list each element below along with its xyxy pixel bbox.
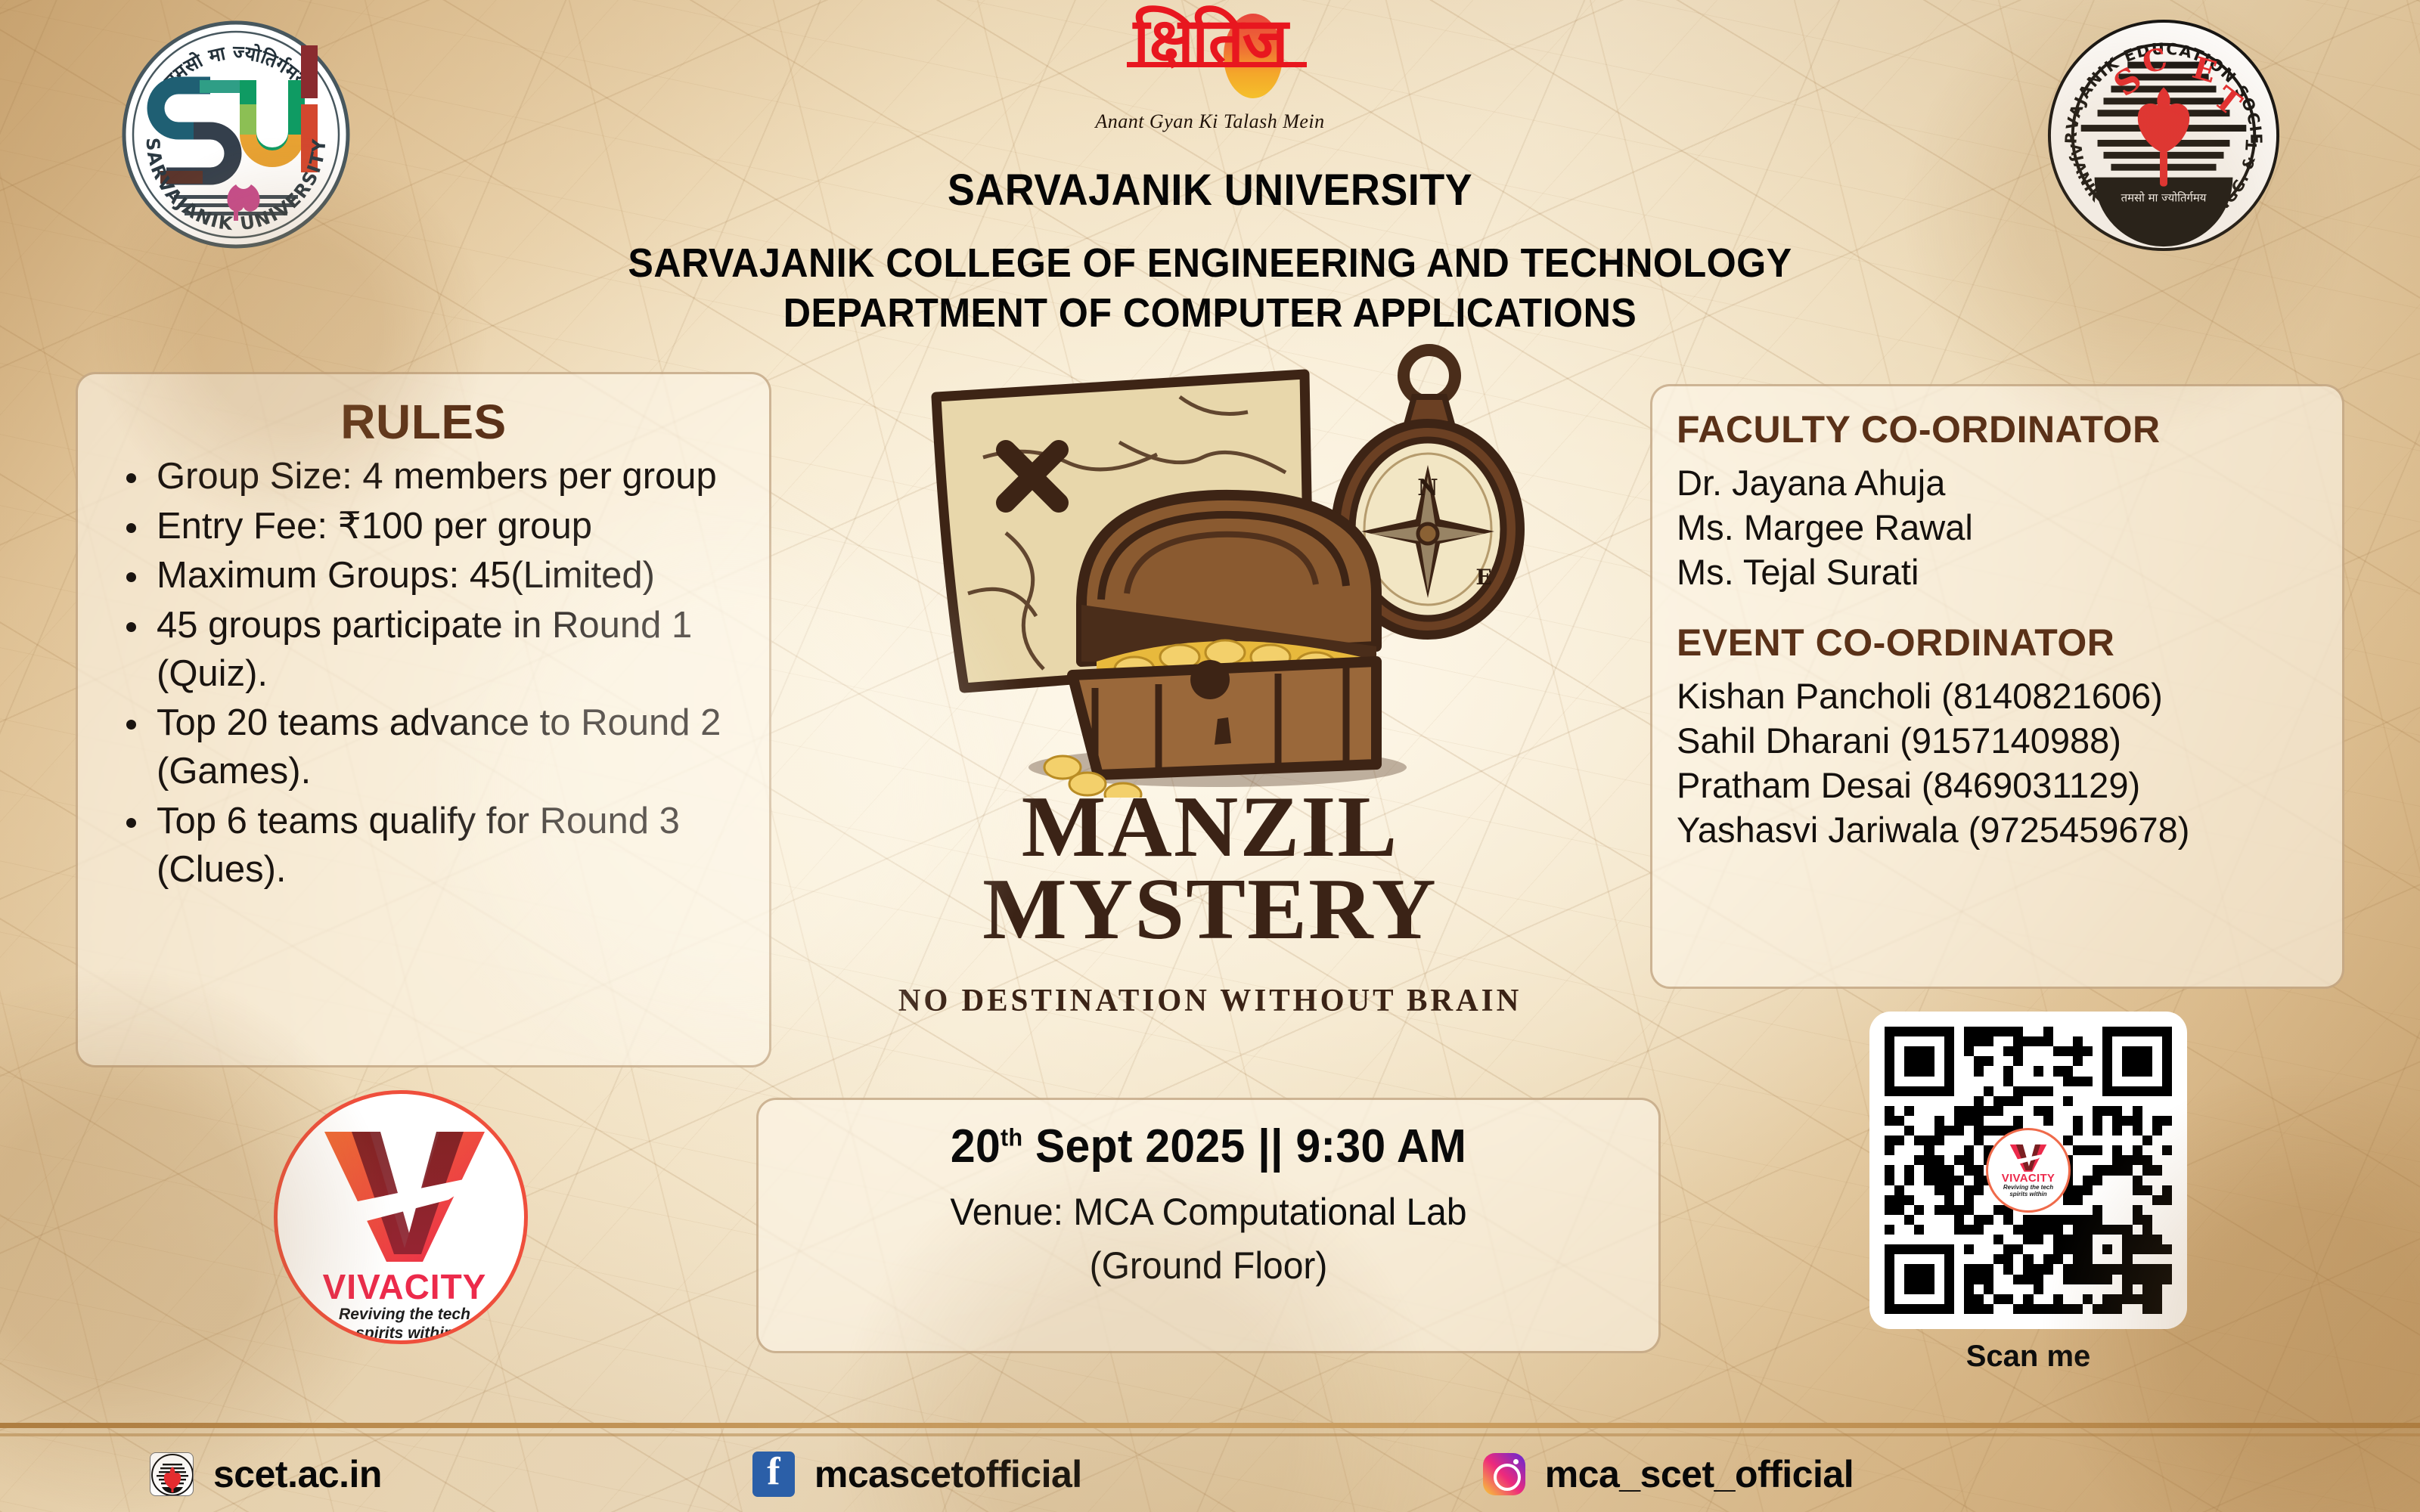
rule-item: Entry Fee: ₹100 per group (120, 503, 743, 551)
qr-logo-v-icon (2008, 1143, 2049, 1172)
rules-list: Group Size: 4 members per group Entry Fe… (104, 453, 743, 894)
qr-logo-wordmark: VIVACITY (2002, 1172, 2055, 1185)
faculty-coordinator-name: Ms. Margee Rawal (1677, 505, 2319, 550)
coordinators-panel: FACULTY CO-ORDINATOR Dr. Jayana Ahuja Ms… (1650, 384, 2344, 989)
faculty-coordinator-title: FACULTY CO-ORDINATOR (1677, 407, 2319, 451)
event-title-line1: MANZIL (809, 786, 1612, 869)
qr-logo-tagline-2: spirits within (2009, 1191, 2046, 1198)
event-coordinator-title: EVENT CO-ORDINATOR (1677, 621, 2319, 665)
vivacity-v-mark (315, 1127, 494, 1263)
scet-logo-icon (150, 1452, 194, 1496)
vivacity-tagline-line1: Reviving the tech (278, 1306, 528, 1325)
schedule-panel: 20th Sept 2025 || 9:30 AM Venue: MCA Com… (756, 1098, 1661, 1353)
qr-embedded-vivacity-logo: VIVACITY Reviving the tech spirits withi… (1986, 1128, 2071, 1213)
event-venue: Venue: MCA Computational Lab (Ground Flo… (799, 1185, 1619, 1293)
facebook-icon (752, 1452, 795, 1497)
svg-text:N: N (1417, 475, 1438, 501)
qr-code[interactable]: VIVACITY Reviving the tech spirits withi… (1869, 1012, 2187, 1329)
rules-panel: RULES Group Size: 4 members per group En… (76, 372, 771, 1067)
event-coordinator-contact: Kishan Pancholi (8140821606) (1677, 674, 2319, 718)
instagram-icon (1483, 1453, 1525, 1495)
vivacity-tagline: Reviving the tech spirits within (278, 1306, 528, 1343)
header-line-department: DEPARTMENT OF COMPUTER APPLICATIONS (85, 289, 2335, 339)
poster-canvas: तमसो मा ज्योतिर्गमय (0, 0, 2420, 1512)
poster-header: SARVAJANIK UNIVERSITY SARVAJANIK COLLEGE… (0, 165, 2420, 339)
event-tagline: NO DESTINATION WITHOUT BRAIN (824, 983, 1595, 1019)
header-line-college: SARVAJANIK COLLEGE OF ENGINEERING AND TE… (85, 239, 2335, 289)
svg-text:E: E (1475, 565, 1491, 590)
devanagari-shirorekha-bar (1127, 62, 1307, 67)
footer-facebook[interactable]: mcascetofficial (752, 1452, 1082, 1497)
qr-caption: Scan me (1869, 1340, 2187, 1374)
registration-qr-block[interactable]: VIVACITY Reviving the tech spirits withi… (1869, 1012, 2187, 1374)
event-coordinator-contact: Yashasvi Jariwala (9725459678) (1677, 807, 2319, 852)
rule-item: 45 groups participate in Round 1 (Quiz). (120, 602, 743, 698)
venue-line-2: (Ground Floor) (799, 1239, 1619, 1293)
event-title-line2: MYSTERY (809, 869, 1612, 951)
rules-title: RULES (104, 394, 743, 450)
poster-content: तमसो मा ज्योतिर्गमय (0, 0, 2420, 1512)
vivacity-club-logo: VIVACITY Reviving the tech spirits withi… (274, 1090, 528, 1344)
footer-bar: scet.ac.in mcascetofficial mca_scet_offi… (0, 1436, 2420, 1512)
facebook-handle: mcascetofficial (814, 1452, 1082, 1496)
event-date-ordinal: th (1001, 1123, 1022, 1151)
event-title: MANZIL MYSTERY (817, 786, 1603, 951)
venue-line-1: Venue: MCA Computational Lab (799, 1185, 1619, 1239)
event-date-day: 20 (951, 1120, 1001, 1173)
event-datetime: 20th Sept 2025 || 9:30 AM (802, 1120, 1615, 1173)
treasure-map-chest-compass-illustration: N E (892, 344, 1528, 798)
footer-divider-top (0, 1423, 2420, 1428)
event-date-rest: Sept 2025 || 9:30 AM (1022, 1120, 1466, 1173)
website-label: scet.ac.in (213, 1452, 382, 1496)
treasure-chest-icon (1044, 495, 1376, 798)
faculty-coordinator-name: Ms. Tejal Surati (1677, 550, 2319, 594)
event-coordinator-contact: Pratham Desai (8469031129) (1677, 763, 2319, 807)
rule-item: Maximum Groups: 45(Limited) (120, 552, 743, 600)
event-coordinator-contact: Sahil Dharani (9157140988) (1677, 718, 2319, 763)
header-line-university: SARVAJANIK UNIVERSITY (85, 165, 2335, 216)
instagram-handle: mca_scet_official (1545, 1452, 1854, 1496)
rule-item: Group Size: 4 members per group (120, 453, 743, 501)
faculty-coordinator-name: Dr. Jayana Ahuja (1677, 460, 2319, 505)
footer-website[interactable]: scet.ac.in (150, 1452, 382, 1496)
vivacity-wordmark: VIVACITY (278, 1266, 528, 1307)
kshitij-mark: क्षितिज (1044, 6, 1376, 112)
rule-item: Top 20 teams advance to Round 2 (Games). (120, 699, 743, 795)
kshitij-tagline: Anant Gyan Ki Talash Mein (1044, 110, 1376, 133)
kshitij-fest-logo: क्षितिज Anant Gyan Ki Talash Mein (1044, 6, 1376, 157)
vivacity-tagline-line2: spirits within (278, 1325, 528, 1343)
rule-item: Top 6 teams qualify for Round 3 (Clues). (120, 798, 743, 894)
footer-instagram[interactable]: mca_scet_official (1483, 1452, 1854, 1496)
